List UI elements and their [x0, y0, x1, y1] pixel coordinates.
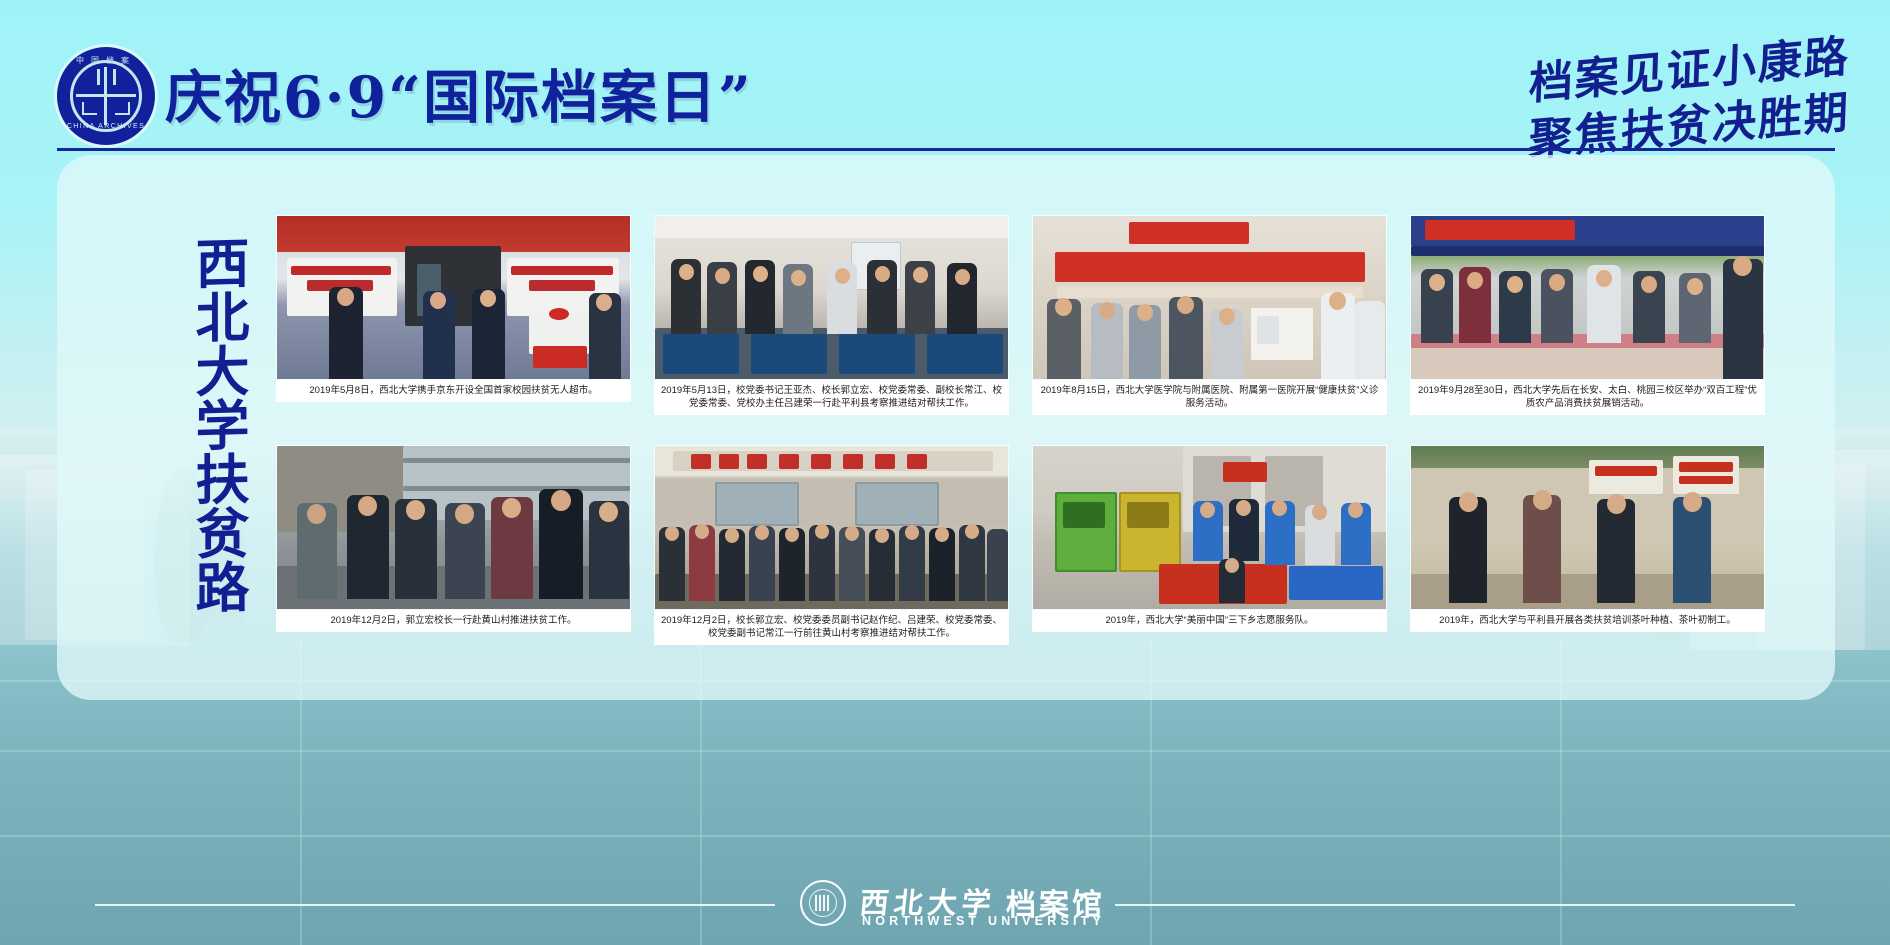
photo-caption: 2019年5月8日，西北大学携手京东开设全国首家校园扶贫无人超市。 — [276, 380, 631, 402]
china-archives-seal-icon: 中国档案 CHINA ARCHIVES — [57, 47, 155, 145]
header: 中国档案 CHINA ARCHIVES 庆祝6·9“国际档案日” 档案见证小康路… — [0, 0, 1890, 152]
photo-card[interactable]: 2019年，西北大学与平利县开展各类扶贫培训茶叶种植、茶叶初制工。 — [1410, 445, 1765, 632]
photo-caption: 2019年8月15日，西北大学医学院与附属医院、附属第一医院开展“健康扶贫”义诊… — [1032, 380, 1387, 415]
photo-image-1 — [276, 215, 631, 380]
footer-department-name: 档案馆 — [1006, 880, 1105, 924]
photo-card[interactable]: 2019年12月2日，校长郭立宏、校党委委员副书记赵作纪、吕建荣、校党委常委、校… — [654, 445, 1009, 645]
photo-caption: 2019年12月2日，郭立宏校长一行赴黄山村推进扶贫工作。 — [276, 610, 631, 632]
photo-card[interactable]: 2019年12月2日，郭立宏校长一行赴黄山村推进扶贫工作。 — [276, 445, 631, 632]
photo-card[interactable]: 2019年5月8日，西北大学携手京东开设全国首家校园扶贫无人超市。 — [276, 215, 631, 402]
northwest-university-logo-icon — [800, 880, 846, 926]
photo-caption: 2019年12月2日，校长郭立宏、校党委委员副书记赵作纪、吕建荣、校党委常委、校… — [654, 610, 1009, 645]
photo-card[interactable]: 2019年9月28至30日，西北大学先后在长安、太白、桃园三校区举办“双百工程”… — [1410, 215, 1765, 415]
footer-rule-right — [1115, 904, 1795, 906]
photo-card[interactable]: 2019年8月15日，西北大学医学院与附属医院、附属第一医院开展“健康扶贫”义诊… — [1032, 215, 1387, 415]
photo-caption: 2019年9月28至30日，西北大学先后在长安、太白、桃园三校区举办“双百工程”… — [1410, 380, 1765, 415]
photo-caption: 2019年，西北大学与平利县开展各类扶贫培训茶叶种植、茶叶初制工。 — [1410, 610, 1765, 632]
photo-image-4 — [1410, 215, 1765, 380]
photo-image-2 — [654, 215, 1009, 380]
photo-card[interactable]: 2019年，西北大学“美丽中国”三下乡志愿服务队。 — [1032, 445, 1387, 632]
footer-rule-left — [95, 904, 775, 906]
seal-bottom-text: CHINA ARCHIVES — [57, 123, 155, 130]
photo-image-7 — [1032, 445, 1387, 610]
photo-image-5 — [276, 445, 631, 610]
page-title: 庆祝6·9“国际档案日” — [165, 52, 753, 134]
photo-image-6 — [654, 445, 1009, 610]
header-divider — [57, 148, 1835, 151]
photo-caption: 2019年，西北大学“美丽中国”三下乡志愿服务队。 — [1032, 610, 1387, 632]
photo-image-8 — [1410, 445, 1765, 610]
calligraphy-slogan: 档案见证小康路 聚焦扶贫决胜期 — [1450, 14, 1850, 142]
photo-grid: 2019年5月8日，西北大学携手京东开设全国首家校园扶贫无人超市。 — [276, 215, 1766, 665]
footer: 西北大学 NORTHWEST UNIVERSITY 档案馆 — [0, 860, 1890, 945]
photo-caption: 2019年5月13日，校党委书记王亚杰、校长郭立宏、校党委常委、副校长常江、校党… — [654, 380, 1009, 415]
photo-image-3 — [1032, 215, 1387, 380]
vertical-section-title: 西北大学扶贫路 — [138, 204, 248, 647]
photo-card[interactable]: 2019年5月13日，校党委书记王亚杰、校长郭立宏、校党委常委、副校长常江、校党… — [654, 215, 1009, 415]
